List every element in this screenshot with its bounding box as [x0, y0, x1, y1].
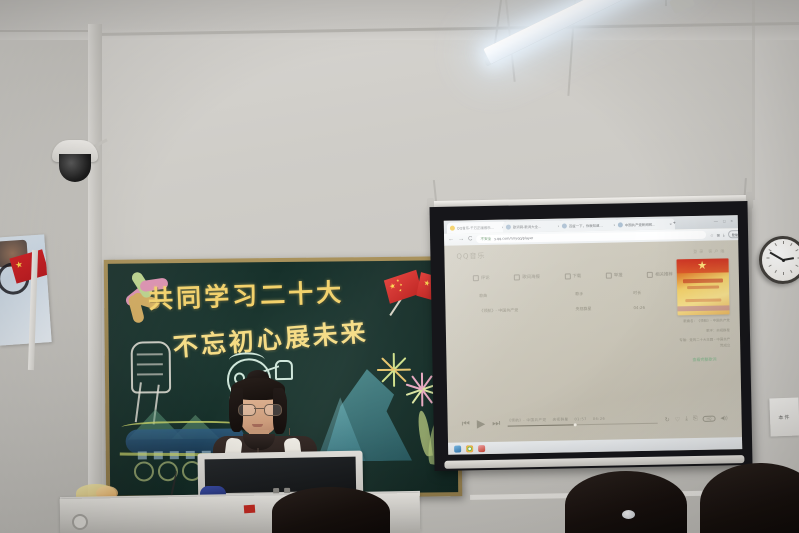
table-header-row: 歌曲 歌手 时长 — [479, 289, 689, 299]
column-header-song: 歌曲 — [479, 291, 575, 299]
progress-bar[interactable] — [507, 423, 657, 427]
glasses-icon — [238, 404, 280, 414]
poster-icon — [514, 274, 520, 280]
clock-center — [782, 259, 785, 262]
wall-notice-text: 本件 — [778, 413, 790, 420]
share-icon[interactable]: ⎘ — [693, 415, 698, 422]
progress-fill — [507, 424, 573, 426]
download-icon[interactable]: ⤓ — [685, 416, 688, 423]
album-meta-3: 专辑：党的二十大主题 - 中国共产党成立 — [678, 337, 730, 349]
tab-label: 百度一下，你就知道... — [569, 222, 603, 228]
bookmark-icon[interactable]: ☆ — [710, 232, 714, 237]
volume-icon[interactable]: ◀)) — [720, 415, 727, 421]
time-total: 04:26 — [593, 417, 605, 422]
left-wall-poster — [0, 234, 52, 345]
wall-notice: 本件 — [769, 398, 799, 437]
chrome-icon[interactable] — [466, 445, 473, 452]
browser-tab-3[interactable]: 中国共产党新闻网... × — [615, 218, 675, 230]
tab-favicon — [618, 222, 623, 227]
dome-security-camera — [52, 140, 98, 192]
close-icon[interactable]: × — [669, 221, 671, 226]
menu-item-poster[interactable]: 歌词海报 — [514, 274, 540, 280]
back-icon[interactable]: ← — [448, 237, 454, 243]
student-foreground-center — [565, 471, 687, 533]
menu-label: 举报 — [614, 272, 623, 278]
reload-icon[interactable]: C — [468, 236, 472, 242]
hair-clip — [622, 510, 635, 519]
browser-tab-0[interactable]: QQ音乐-千万正版音乐... × — [447, 221, 507, 233]
cell-duration: 04:26 — [633, 304, 679, 311]
album-title-block — [683, 278, 723, 283]
download-icon — [564, 273, 570, 279]
menu-label: 相关推荐 — [655, 271, 673, 277]
menu-item-download[interactable]: 下载 — [564, 273, 581, 279]
tab-label: QQ音乐-千万正版音乐... — [457, 224, 494, 230]
previous-track-button[interactable]: ⏮ — [462, 418, 470, 429]
cell-song: 《领航》- 中国共产党 — [479, 306, 575, 314]
time-current: 01:57 — [574, 417, 586, 422]
play-button[interactable]: ▶ — [477, 417, 486, 430]
album-meta-1: 歌曲名：《领航》- 中国共产党 — [678, 318, 730, 324]
ceiling-trim-line-left — [0, 30, 100, 32]
tab-label: 歌词网-歌词大全... — [513, 223, 541, 229]
song-table: 歌曲 歌手 时长 《领航》- 中国共产党 央视群星 04:26 — [479, 289, 690, 323]
os-taskbar — [448, 437, 742, 455]
forward-icon[interactable]: → — [458, 236, 464, 242]
analog-wall-clock — [759, 236, 799, 284]
report-icon — [606, 273, 612, 279]
browser-tab-1[interactable]: 歌词网-歌词大全... × — [503, 220, 563, 232]
browser-toolbar-right: ☆ ⊞ ⤓ 登录 — [710, 230, 742, 239]
album-cover-image — [677, 258, 730, 315]
action-menu-row: 评论 歌词海报 下载 举报 — [473, 271, 673, 281]
progress-area: 《领航》- 中国共产党 央视群星 01:57 04:26 — [507, 416, 658, 427]
projection-surface: QQ音乐-千万正版音乐... × 歌词网-歌词大全... × 百度一下，你就知道… — [444, 215, 742, 455]
menu-label: 评论 — [481, 275, 490, 281]
browser-tab-2[interactable]: 百度一下，你就知道... × — [559, 219, 619, 231]
tab-favicon — [562, 223, 567, 228]
cell-artist: 央视群星 — [575, 305, 633, 312]
ceiling-light-fixture — [487, 0, 682, 108]
downloads-icon[interactable]: ⤓ — [723, 232, 725, 237]
player-right-icons: ↻ ♡ ⤓ ⎘ HQ ◀)) — [665, 415, 728, 423]
now-playing-artist: 央视群星 — [552, 417, 568, 422]
favorite-icon[interactable]: ♡ — [675, 416, 681, 423]
column-header-artist: 歌手 — [575, 290, 633, 297]
window-controls[interactable]: — □ × — [714, 218, 735, 223]
next-track-button[interactable]: ⏭ — [492, 417, 500, 428]
tab-label: 中国共产党新闻网... — [625, 221, 655, 227]
album-meta-2: 歌手：央视群星 — [678, 328, 730, 334]
wall-pillar — [88, 24, 102, 533]
nose — [289, 428, 294, 435]
media-icon[interactable] — [478, 445, 485, 452]
clock-hour-hand — [783, 257, 794, 261]
light-hanger-rod — [665, 0, 667, 6]
media-player-bar: ⏮ ▶ ⏭ 《领航》- 中国共产党 央视群星 01:57 04:26 — [447, 407, 741, 435]
album-subtitle-block — [687, 286, 719, 290]
flag-star-icon — [15, 260, 24, 269]
menu-item-comment[interactable]: 评论 — [473, 275, 490, 281]
menu-item-report[interactable]: 举报 — [606, 272, 623, 278]
new-tab-button[interactable]: + — [673, 220, 676, 226]
column-header-duration: 时长 — [633, 289, 679, 296]
lyrics-link[interactable]: 查看完整歌词 — [678, 356, 730, 363]
album-sidebar: 歌曲名：《领航》- 中国共产党 歌手：央视群星 专辑：党的二十大主题 - 中国共… — [677, 258, 731, 363]
extensions-icon[interactable]: ⊞ — [717, 232, 720, 237]
url-text: y.qq.com/n/ryqq/player — [494, 236, 533, 241]
now-playing-title: 《领航》- 中国共产党 — [507, 418, 546, 424]
webpage-content: QQ音乐 登录 客户端 评论 歌词海报 下载 — [444, 240, 742, 455]
album-footer-band — [677, 305, 729, 311]
menu-item-recommend[interactable]: 相关推荐 — [647, 271, 673, 277]
browser-icon[interactable] — [454, 445, 461, 452]
desk-red-label — [244, 505, 256, 514]
wall-seam — [752, 0, 755, 200]
profile-button[interactable]: 登录 — [728, 230, 743, 238]
student-foreground-left — [272, 487, 390, 533]
table-row[interactable]: 《领航》- 中国共产党 央视群星 04:26 — [479, 304, 689, 314]
repeat-icon[interactable]: ↻ — [665, 416, 670, 423]
projection-screen: QQ音乐-千万正版音乐... × 歌词网-歌词大全... × 百度一下，你就知道… — [429, 201, 752, 471]
progress-handle[interactable] — [574, 423, 577, 426]
menu-label: 歌词海报 — [522, 274, 540, 280]
recommend-icon — [647, 272, 653, 278]
quality-badge[interactable]: HQ — [703, 415, 716, 422]
mouth — [252, 424, 263, 427]
tab-favicon — [450, 225, 455, 230]
classroom-photo: 共同学习二十大 不忘初心展未来 — [0, 0, 799, 533]
menu-label: 下载 — [572, 273, 581, 279]
site-logo: QQ音乐 — [456, 251, 485, 262]
security-warning-icon: 不安全 — [480, 236, 491, 241]
album-credit-block — [685, 298, 721, 302]
comment-icon — [473, 275, 479, 281]
desk-knob — [72, 514, 88, 530]
camera-dome-icon — [59, 154, 91, 182]
site-top-nav[interactable]: 登录 客户端 — [693, 248, 726, 255]
tab-favicon — [506, 224, 511, 229]
